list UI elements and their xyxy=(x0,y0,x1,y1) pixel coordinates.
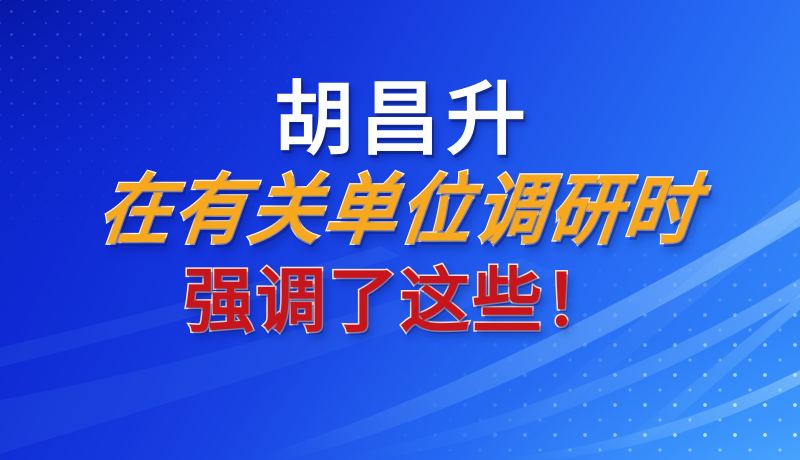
headline-block: 胡昌升 在有关单位调研时 强调了这些！ xyxy=(0,0,800,460)
news-banner: 胡昌升 在有关单位调研时 强调了这些！ xyxy=(0,0,800,460)
headline-line-name: 胡昌升 xyxy=(268,80,532,160)
headline-line-subtitle: 在有关单位调研时 xyxy=(95,172,704,248)
headline-line-emphasis: 强调了这些！ xyxy=(184,266,616,336)
